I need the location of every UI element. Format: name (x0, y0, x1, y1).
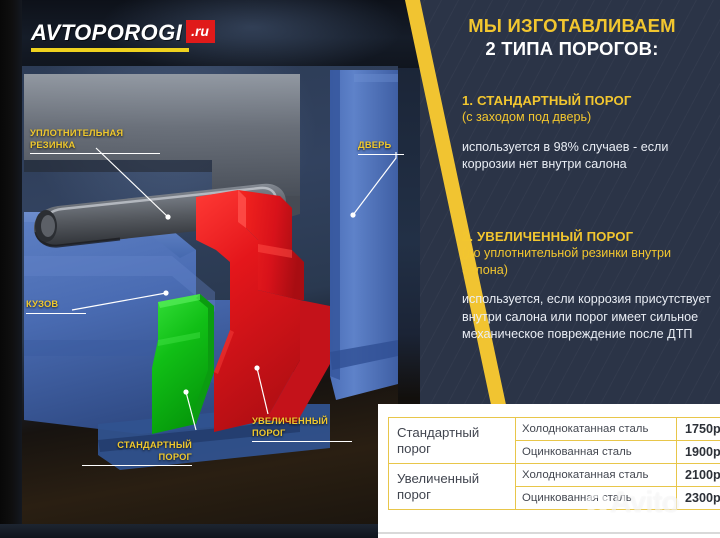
type-block-standard-body: используется в 98% случаев - если корроз… (462, 139, 720, 174)
table-bottom-rule (378, 532, 720, 534)
callout-enlarged-sill: УВЕЛИЧЕННЫЙ ПОРОГ (252, 416, 352, 442)
callout-seal-rubber-line1: УПЛОТНИТЕЛЬНАЯ (30, 128, 123, 138)
ad-image: УПЛОТНИТЕЛЬНАЯ РЕЗИНКА КУЗОВ ДВЕРЬ СТАНД… (0, 0, 720, 538)
callout-seal-rubber-line2: РЕЗИНКА (30, 140, 160, 155)
headline-line-1: МЫ ИЗГОТАВЛИВАЕМ (430, 14, 714, 37)
type-block-enlarged-subtitle: (до уплотнительной резинки внутри салона… (462, 245, 720, 278)
price-table-area: Стандартный порог Холоднокатанная сталь … (378, 404, 720, 538)
type-block-standard: 1. СТАНДАРТНЫЙ ПОРОГ (с заходом под двер… (462, 92, 720, 174)
callout-standard-sill: СТАНДАРТНЫЙ ПОРОГ (82, 440, 192, 466)
type-block-enlarged-body: используется, если коррозия присутствует… (462, 291, 720, 344)
brand-logo[interactable]: AVTOPOROGI.ru (31, 20, 215, 52)
type-block-standard-title: 1. СТАНДАРТНЫЙ ПОРОГ (462, 92, 720, 109)
brand-logo-tld: .ru (186, 20, 215, 43)
price-value: 1900р. (677, 441, 720, 464)
price-material: Холоднокатанная сталь (516, 464, 677, 487)
headline-line-2: 2 ТИПА ПОРОГОВ: (430, 37, 714, 60)
callout-enlarged-sill-line1: УВЕЛИЧЕННЫЙ (252, 416, 328, 426)
illustration-panel: УПЛОТНИТЕЛЬНАЯ РЕЗИНКА КУЗОВ ДВЕРЬ СТАНД… (0, 0, 420, 538)
callout-door-text: ДВЕРЬ (358, 140, 404, 155)
type-block-standard-subtitle: (с заходом под дверь) (462, 109, 720, 126)
callout-enlarged-sill-line2: ПОРОГ (252, 428, 352, 443)
price-category-enlarged: Увеличенный порог (389, 464, 516, 510)
callout-seal-rubber: УПЛОТНИТЕЛЬНАЯ РЕЗИНКА (30, 128, 160, 154)
brand-logo-underline (31, 48, 189, 52)
frame-left-edge (0, 0, 22, 538)
callout-standard-sill-line2: ПОРОГ (82, 452, 192, 467)
type-block-enlarged-title: 2. УВЕЛИЧЕННЫЙ ПОРОГ (462, 228, 720, 245)
price-value: 2300р. (677, 487, 720, 510)
price-value: 1750р. (677, 418, 720, 441)
price-table: Стандартный порог Холоднокатанная сталь … (388, 417, 720, 510)
price-material: Оцинкованная сталь (516, 441, 677, 464)
price-material: Оцинкованная сталь (516, 487, 677, 510)
price-material: Холоднокатанная сталь (516, 418, 677, 441)
table-row: Стандартный порог Холоднокатанная сталь … (389, 418, 720, 441)
frame-bottom-edge (0, 524, 420, 538)
callout-standard-sill-line1: СТАНДАРТНЫЙ (117, 440, 192, 450)
price-value: 2100р. (677, 464, 720, 487)
callout-car-body: КУЗОВ (26, 299, 86, 314)
brand-logo-word: AVTOPOROGI (31, 20, 182, 46)
callout-car-body-text: КУЗОВ (26, 299, 86, 314)
price-category-standard: Стандартный порог (389, 418, 516, 464)
headline: МЫ ИЗГОТАВЛИВАЕМ 2 ТИПА ПОРОГОВ: (430, 14, 714, 60)
table-row: Увеличенный порог Холоднокатанная сталь … (389, 464, 720, 487)
callout-door: ДВЕРЬ (358, 140, 404, 155)
type-block-enlarged: 2. УВЕЛИЧЕННЫЙ ПОРОГ (до уплотнительной … (462, 228, 720, 344)
